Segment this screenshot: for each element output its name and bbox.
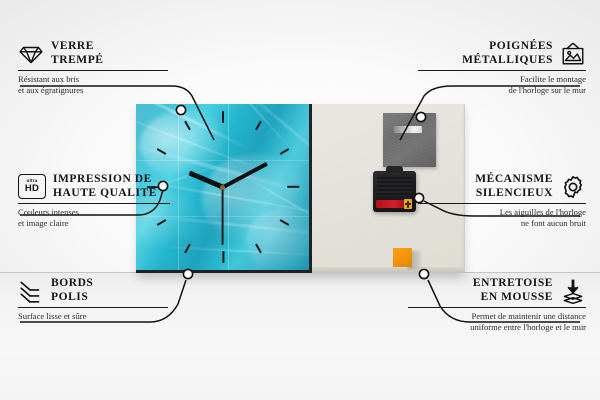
gear-icon [560, 174, 586, 200]
feature-poignees-metalliques: POIGNÉES MÉTALLIQUES Facilite le montage… [418, 40, 586, 96]
metallic-hanger-plate [383, 113, 436, 167]
feature-description: Les aiguilles de l'horloge ne font aucun… [418, 207, 586, 229]
feature-bords-polis: BORDS POLIS Surface lisse et sûre [18, 277, 168, 322]
clock-center-cap [220, 185, 225, 190]
badge-hd-label: HD [25, 184, 39, 194]
feature-description: Facilite le montage de l'horloge sur le … [418, 74, 586, 96]
feature-divider [418, 203, 586, 204]
wall-board-edge [308, 267, 465, 273]
feature-header: BORDS POLIS [18, 277, 168, 304]
clock-tick [279, 219, 289, 226]
clock-tick [156, 148, 166, 155]
mechanism-hanger-tab [386, 166, 403, 173]
foam-spacer [393, 248, 412, 267]
feature-header: VERRE TREMPÉ [18, 40, 168, 67]
clock-tick [287, 186, 299, 188]
foam-spacer-icon [560, 278, 586, 304]
diamond-icon [18, 41, 44, 67]
feature-header: MÉCANISME SILENCIEUX [418, 173, 586, 200]
feature-divider [18, 70, 168, 71]
battery-terminal-icon [404, 199, 412, 209]
infographic-canvas: VERRE TREMPÉ Résistant aux bris et aux é… [0, 0, 600, 400]
feature-entretoise-en-mousse: ENTRETOISE EN MOUSSE Permet de maintenir… [408, 277, 586, 333]
metal-grain [383, 113, 436, 167]
feature-divider [408, 307, 586, 308]
hanger-slot [394, 126, 422, 133]
feature-impression-haute-qualite: ultra HD IMPRESSION DE HAUTE QUALITÉ Cou… [18, 173, 170, 229]
feature-divider [18, 307, 168, 308]
clock-tick [184, 244, 191, 254]
feature-header: POIGNÉES MÉTALLIQUES [418, 40, 586, 67]
feature-description: Surface lisse et sûre [18, 311, 168, 322]
clock-tick [255, 244, 262, 254]
feature-title: ENTRETOISE EN MOUSSE [473, 277, 553, 304]
clock-minute-hand [222, 162, 268, 189]
feature-header: ultra HD IMPRESSION DE HAUTE QUALITÉ [18, 173, 170, 200]
feature-title: BORDS POLIS [51, 277, 93, 304]
clock-mechanism-box [373, 171, 416, 212]
clock-tick [222, 111, 224, 123]
clock-tick [222, 251, 224, 263]
product-composition [136, 104, 464, 273]
feature-mecanisme-silencieux: MÉCANISME SILENCIEUX Les aiguilles de l'… [418, 173, 586, 229]
ultra-hd-badge-icon: ultra HD [18, 174, 46, 199]
clock-hour-hand [188, 171, 223, 190]
clock-tick [255, 121, 262, 131]
feature-description: Permet de maintenir une distance uniform… [408, 311, 586, 333]
feature-divider [18, 203, 170, 204]
feature-description: Couleurs intenses et image claire [18, 207, 170, 229]
feature-title: POIGNÉES MÉTALLIQUES [462, 40, 553, 67]
clock-second-hand [222, 187, 224, 245]
clock-tick [184, 121, 191, 131]
feature-title: IMPRESSION DE HAUTE QUALITÉ [53, 173, 157, 200]
wall-frame-icon [560, 41, 586, 67]
clock-tick [279, 148, 289, 155]
feature-divider [418, 70, 586, 71]
feature-title: VERRE TREMPÉ [51, 40, 104, 67]
feature-description: Résistant aux bris et aux égratignures [18, 74, 168, 96]
feature-title: MÉCANISME SILENCIEUX [475, 173, 553, 200]
polished-edges-icon [18, 278, 44, 304]
feature-verre-trempe: VERRE TREMPÉ Résistant aux bris et aux é… [18, 40, 168, 96]
mechanism-body [377, 175, 412, 196]
feature-header: ENTRETOISE EN MOUSSE [408, 277, 586, 304]
